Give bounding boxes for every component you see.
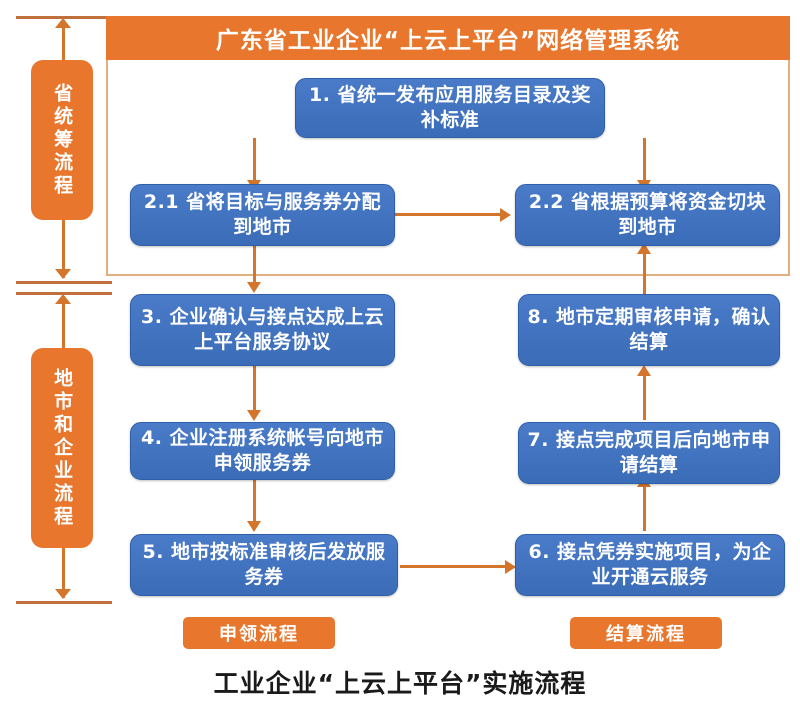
rail-label-province-text: 省统筹流程	[50, 83, 74, 198]
rail-label-city-enterprise: 地市和企业流程	[31, 348, 93, 548]
province-section-title: 广东省工业企业“上云上平台”网络管理系统	[106, 16, 790, 60]
node-6[interactable]: 6. 接点凭券实施项目，为企业开通云服务	[515, 534, 785, 596]
tag-application-process[interactable]: 申领流程	[183, 617, 335, 649]
flowchart-canvas: 省统筹流程 地市和企业流程 广东省工业企业“上云上平台”网络管理系统 1. 省统…	[0, 0, 800, 704]
rail-divider-bottom	[16, 601, 112, 604]
connector-4-to-5-line	[253, 478, 256, 526]
tag-settlement-process[interactable]: 结算流程	[570, 617, 722, 649]
rail-1-arrow-down	[55, 269, 71, 279]
connector-4-to-5-arrow	[247, 521, 261, 532]
node-4[interactable]: 4. 企业注册系统帐号向地市申领服务券	[130, 422, 395, 480]
connector-2.1-to-3-arrow	[247, 282, 261, 293]
rail-divider-middle-a	[16, 281, 112, 284]
node-8[interactable]: 8. 地市定期审核申请，确认结算	[518, 294, 780, 366]
node-5[interactable]: 5. 地市按标准审核后发放服务券	[130, 534, 398, 596]
connector-6-to-7-line	[643, 483, 646, 531]
node-3[interactable]: 3. 企业确认与接点达成上云上平台服务协议	[130, 294, 395, 366]
rail-2-arrow-up	[55, 294, 71, 304]
rail-label-province: 省统筹流程	[31, 60, 93, 220]
connector-1-to-2.2-line	[643, 138, 646, 183]
rail-label-city-enterprise-text: 地市和企业流程	[50, 368, 74, 529]
connector-2.1-to-2.2-line	[395, 213, 505, 216]
node-1[interactable]: 1. 省统一发布应用服务目录及奖补标准	[295, 78, 605, 138]
connector-1-to-2.1-line	[253, 138, 256, 183]
connector-7-to-8-arrow	[637, 365, 651, 376]
rail-1-arrow-up	[55, 18, 71, 28]
node-7[interactable]: 7. 接点完成项目后向地市申请结算	[518, 422, 780, 484]
connector-2.1-to-2.2-arrow	[500, 208, 511, 222]
node-2-1[interactable]: 2.1 省将目标与服务券分配到地市	[130, 184, 395, 246]
rail-2-arrow-down	[55, 589, 71, 599]
connector-5-to-6-line	[400, 565, 510, 568]
figure-caption: 工业企业“上云上平台”实施流程	[0, 664, 800, 700]
node-2-2[interactable]: 2.2 省根据预算将资金切块到地市	[515, 184, 780, 246]
connector-3-to-4-arrow	[247, 410, 261, 421]
connector-8-to-2.2-line	[643, 250, 646, 294]
connector-7-to-8-line	[643, 372, 646, 420]
connector-3-to-4-line	[253, 366, 256, 414]
